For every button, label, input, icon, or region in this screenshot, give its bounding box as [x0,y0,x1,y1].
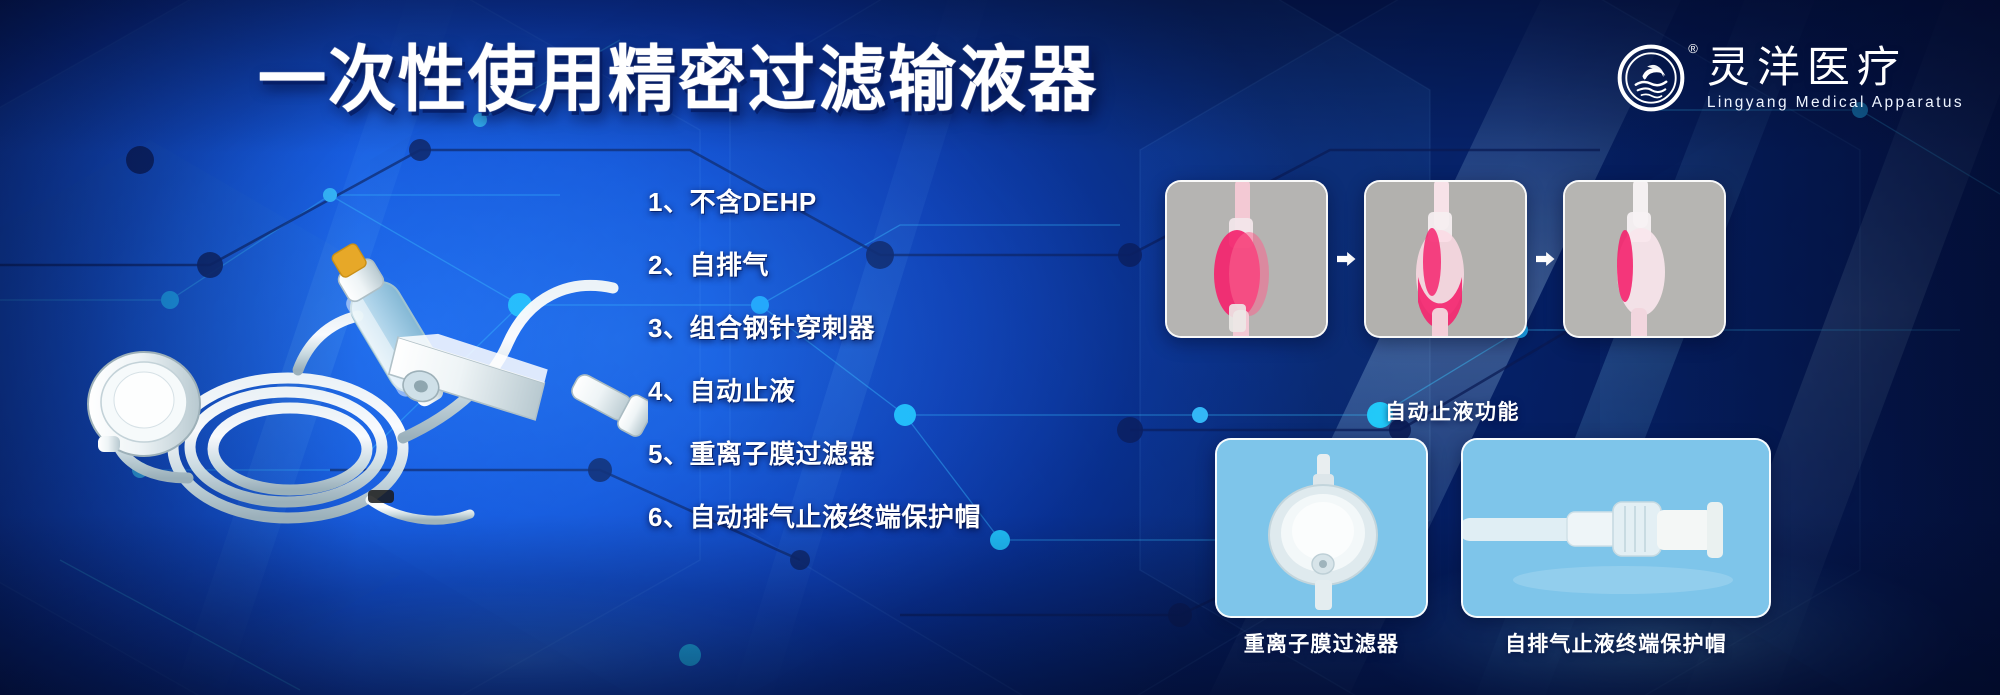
brand-name-en: Lingyang Medical Apparatus [1707,95,1964,111]
auto-stop-sequence-panel [1165,180,1726,338]
feature-item-1: 1、不含DEHP [648,169,978,232]
protective-cap-caption: 自排气止液终端保护帽 [1461,628,1771,658]
feature-item-3: 3、组合钢针穿刺器 [648,295,978,358]
page-title: 一次性使用精密过滤输液器 [258,44,1098,116]
brand-text-block: 灵洋医疗 Lingyang Medical Apparatus [1707,46,1964,110]
sequence-shot-2 [1364,180,1527,338]
feature-list: 1、不含DEHP 2、自排气 3、组合钢针穿刺器 4、自动止液 5、重离子膜过滤… [648,169,978,547]
registered-trademark-icon: ® [1688,42,1698,55]
detail-caption-row: 重离子膜过滤器 自排气止液终端保护帽 [1215,628,1771,658]
filter-photo [1215,438,1428,618]
banner-header: 一次性使用精密过滤输液器 ® 灵洋医疗 Lingyang Medical App… [0,0,2000,150]
product-banner: 一次性使用精密过滤输液器 ® 灵洋医疗 Lingyang Medical App… [0,0,2000,695]
brand-name-cn: 灵洋医疗 [1707,46,1964,92]
luer-connector [566,366,648,438]
filter-caption: 重离子膜过滤器 [1215,628,1428,658]
protective-cap-photo [1461,438,1771,618]
filter-disc [88,352,200,456]
feature-item-2: 2、自排气 [648,232,978,295]
detail-photo-panel [1215,438,1771,618]
auto-stop-caption: 自动止液功能 [1165,396,1740,426]
roller-clamp [384,325,549,430]
hero-product-photo [38,148,648,548]
brand-lockup: ® 灵洋医疗 Lingyang Medical Apparatus [1613,40,1964,116]
sequence-shot-1 [1165,180,1328,338]
right-arrow-icon-1 [1328,180,1364,338]
feature-item-5: 5、重离子膜过滤器 [648,421,978,484]
right-arrow-icon-2 [1527,180,1563,338]
sequence-shot-3 [1563,180,1726,338]
feature-item-6: 6、自动排气止液终端保护帽 [648,484,978,547]
wave-seal-logo-icon: ® [1613,40,1689,116]
feature-item-4: 4、自动止液 [648,358,978,421]
